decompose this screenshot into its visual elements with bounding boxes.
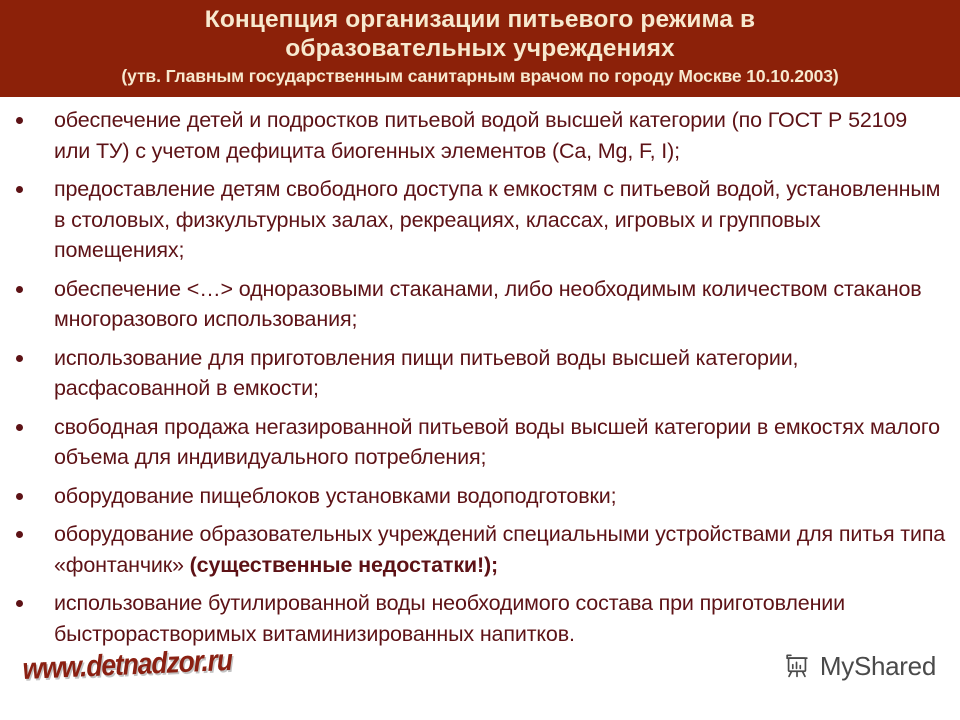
list-item-text: предоставление детям свободного доступа … bbox=[54, 177, 940, 262]
bullet-dot-icon bbox=[16, 355, 23, 362]
bullet-dot-icon bbox=[16, 424, 23, 431]
list-item: предоставление детям свободного доступа … bbox=[12, 174, 948, 266]
bullet-dot-icon bbox=[16, 600, 23, 607]
slide-body: обеспечение детей и подростков питьевой … bbox=[0, 97, 960, 645]
site-url-watermark[interactable]: www.detnadzor.ru bbox=[22, 644, 232, 687]
list-item-text: оборудование пищеблоков установками водо… bbox=[54, 484, 616, 508]
list-item: использование бутилированной воды необхо… bbox=[12, 588, 948, 649]
list-item: оборудование пищеблоков установками водо… bbox=[12, 481, 948, 512]
myshared-label: MyShared bbox=[820, 651, 936, 682]
slide: Концепция организации питьевого режима в… bbox=[0, 0, 960, 720]
slide-header: Концепция организации питьевого режима в… bbox=[0, 0, 960, 97]
bullet-dot-icon bbox=[16, 493, 23, 500]
myshared-logo[interactable]: MyShared bbox=[782, 651, 936, 682]
page-subtitle: (утв. Главным государственным санитарным… bbox=[26, 65, 934, 87]
list-item-text: использование для приготовления пищи пит… bbox=[54, 346, 798, 401]
bullet-list: обеспечение детей и подростков питьевой … bbox=[12, 105, 948, 649]
bullet-dot-icon bbox=[16, 117, 23, 124]
list-item-text: обеспечение детей и подростков питьевой … bbox=[54, 108, 907, 163]
list-item: обеспечение <…> одноразовыми стаканами, … bbox=[12, 274, 948, 335]
list-item-text: оборудование образовательных учреждений … bbox=[54, 522, 945, 577]
list-item: свободная продажа негазированной питьево… bbox=[12, 412, 948, 473]
page-title: Концепция организации питьевого режима в… bbox=[26, 5, 934, 63]
bullet-dot-icon bbox=[16, 531, 23, 538]
list-item: обеспечение детей и подростков питьевой … bbox=[12, 105, 948, 166]
list-item-emphasis: (существенные недостатки!); bbox=[190, 553, 498, 577]
list-item-text: свободная продажа негазированной питьево… bbox=[54, 415, 940, 470]
list-item-text: использование бутилированной воды необхо… bbox=[54, 591, 845, 646]
list-item: оборудование образовательных учреждений … bbox=[12, 519, 948, 580]
slide-footer: www.detnadzor.ru MyShared bbox=[0, 645, 960, 720]
list-item-text: обеспечение <…> одноразовыми стаканами, … bbox=[54, 277, 922, 332]
bullet-dot-icon bbox=[16, 286, 23, 293]
bullet-dot-icon bbox=[16, 186, 23, 193]
list-item: использование для приготовления пищи пит… bbox=[12, 343, 948, 404]
flipchart-bar-chart-icon bbox=[782, 652, 812, 682]
